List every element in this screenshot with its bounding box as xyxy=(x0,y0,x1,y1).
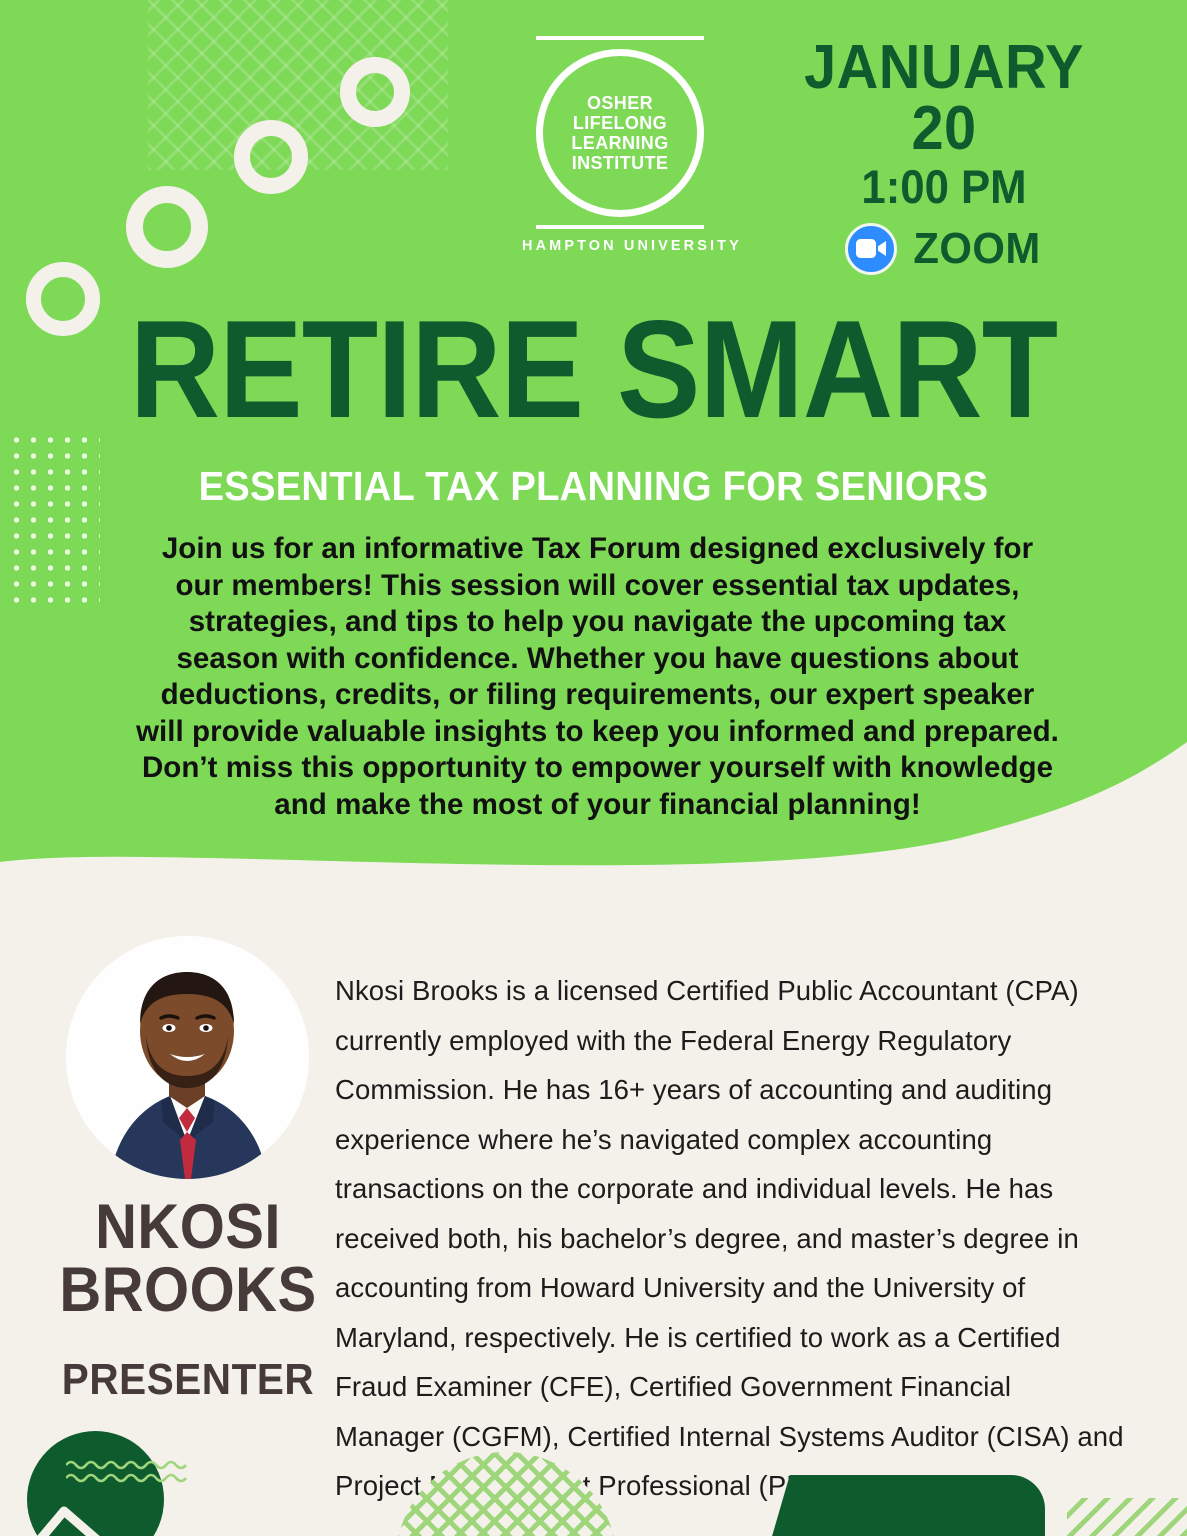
decorative-dark-blob-icon xyxy=(755,1475,1045,1536)
event-platform-label: ZOOM xyxy=(913,224,1040,274)
flyer-subtitle: ESSENTIAL TAX PLANNING FOR SENIORS xyxy=(42,466,1146,507)
presenter-name: NKOSI BROOKS xyxy=(52,1196,324,1322)
logo-line-4: INSTITUTE xyxy=(571,153,668,173)
logo-bottom-rule xyxy=(536,225,704,229)
event-platform-row: ZOOM xyxy=(779,223,1109,275)
event-details: JANUARY 20 1:00 PM ZOOM xyxy=(779,38,1109,275)
dot-grid-pattern-icon xyxy=(8,432,100,608)
event-time: 1:00 PM xyxy=(791,160,1098,214)
logo-line-3: LEARNING xyxy=(571,133,668,153)
olli-logo: OSHER LIFELONG LEARNING INSTITUTE HAMPTO… xyxy=(522,36,718,254)
presenter-avatar xyxy=(66,936,309,1179)
logo-line-1: OSHER xyxy=(571,93,668,113)
logo-wordmark: OSHER LIFELONG LEARNING INSTITUTE xyxy=(571,93,668,174)
flyer-description: Join us for an informative Tax Forum des… xyxy=(135,531,1060,823)
green-hero-panel: OSHER LIFELONG LEARNING INSTITUTE HAMPTO… xyxy=(0,0,1187,880)
zoom-camera-icon xyxy=(845,223,897,275)
event-flyer: OSHER LIFELONG LEARNING INSTITUTE HAMPTO… xyxy=(0,0,1187,1536)
decorative-chevron-outline-icon xyxy=(20,1493,130,1536)
presenter-role: PRESENTER xyxy=(52,1358,324,1402)
logo-university-label: HAMPTON UNIVERSITY xyxy=(522,238,718,254)
logo-circle-icon: OSHER LIFELONG LEARNING INSTITUTE xyxy=(536,49,704,217)
decorative-wave-lines-icon xyxy=(66,1458,192,1484)
event-date: JANUARY 20 xyxy=(791,38,1098,160)
logo-line-2: LIFELONG xyxy=(571,113,668,133)
flyer-title: RETIRE SMART xyxy=(59,300,1127,439)
flyer-header: OSHER LIFELONG LEARNING INSTITUTE HAMPTO… xyxy=(0,0,1187,280)
decorative-stripes-icon xyxy=(1067,1498,1187,1536)
logo-top-rule xyxy=(536,36,704,40)
presenter-bio: Nkosi Brooks is a licensed Certified Pub… xyxy=(335,966,1125,1511)
